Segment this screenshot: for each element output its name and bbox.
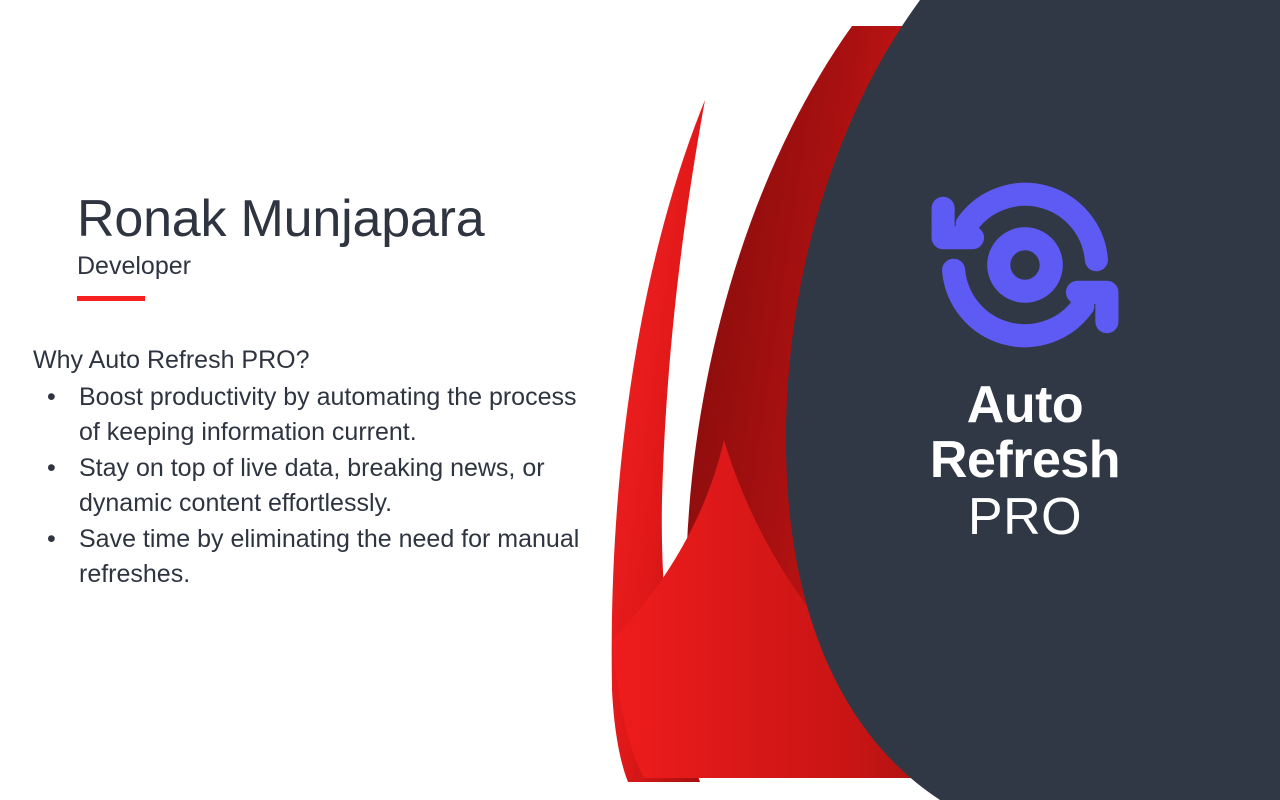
product-logo-lockup: Auto Refresh PRO (865, 160, 1185, 546)
accent-underline (77, 296, 145, 301)
logo-line-pro: PRO (865, 488, 1185, 546)
list-item: Boost productivity by automating the pro… (33, 380, 603, 451)
body-heading: Why Auto Refresh PRO? (33, 344, 603, 378)
logo-line-auto: Auto (865, 378, 1185, 433)
list-item: Save time by eliminating the need for ma… (33, 522, 603, 593)
decorative-crescent-outer (612, 100, 705, 782)
speaker-role: Developer (77, 253, 597, 281)
auto-refresh-circular-arrows-icon (920, 160, 1130, 370)
logo-line-refresh: Refresh (865, 433, 1185, 488)
list-item: Stay on top of live data, breaking news,… (33, 451, 603, 522)
benefits-bullet-list: Boost productivity by automating the pro… (33, 380, 603, 593)
presentation-slide: Ronak Munjapara Developer Why Auto Refre… (0, 0, 1280, 800)
slide-body-content: Why Auto Refresh PRO? Boost productivity… (33, 344, 603, 593)
speaker-identity-block: Ronak Munjapara Developer (77, 192, 597, 301)
slide-left-column: Ronak Munjapara Developer Why Auto Refre… (0, 0, 620, 800)
speaker-name: Ronak Munjapara (77, 192, 597, 247)
product-wordmark: Auto Refresh PRO (865, 378, 1185, 546)
